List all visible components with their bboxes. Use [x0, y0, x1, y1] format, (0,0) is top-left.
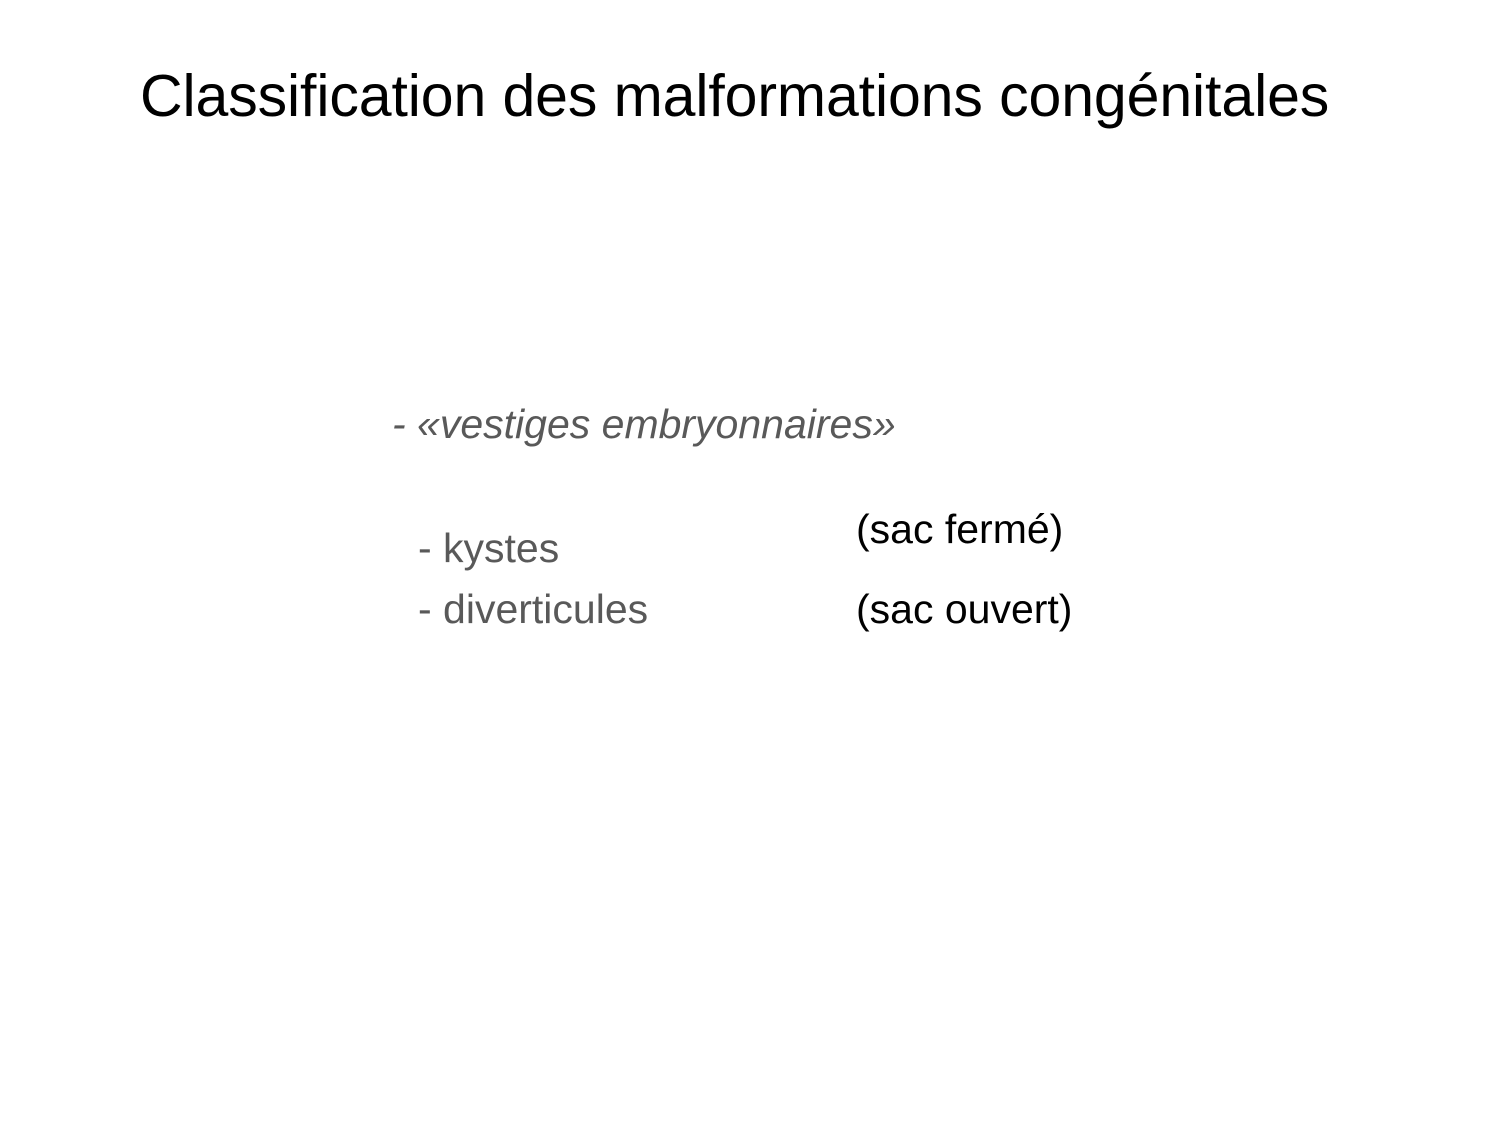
presentation-slide: Classification des malformations congéni…	[0, 0, 1500, 1125]
annotation-sac-ouvert: (sac ouvert)	[856, 586, 1072, 633]
slide-content-body: - «vestiges embryonnaires» - kystes - di…	[0, 0, 1500, 1125]
list-item-diverticules: - diverticules	[418, 579, 648, 640]
sub-bullet-list: - kystes - diverticules	[418, 518, 648, 639]
annotation-sac-ferme: (sac fermé)	[856, 506, 1072, 553]
bullet-vestiges-embryonnaires: - «vestiges embryonnaires»	[392, 400, 896, 448]
list-item-kystes: - kystes	[418, 518, 648, 579]
annotation-column: (sac fermé) (sac ouvert)	[856, 506, 1072, 633]
